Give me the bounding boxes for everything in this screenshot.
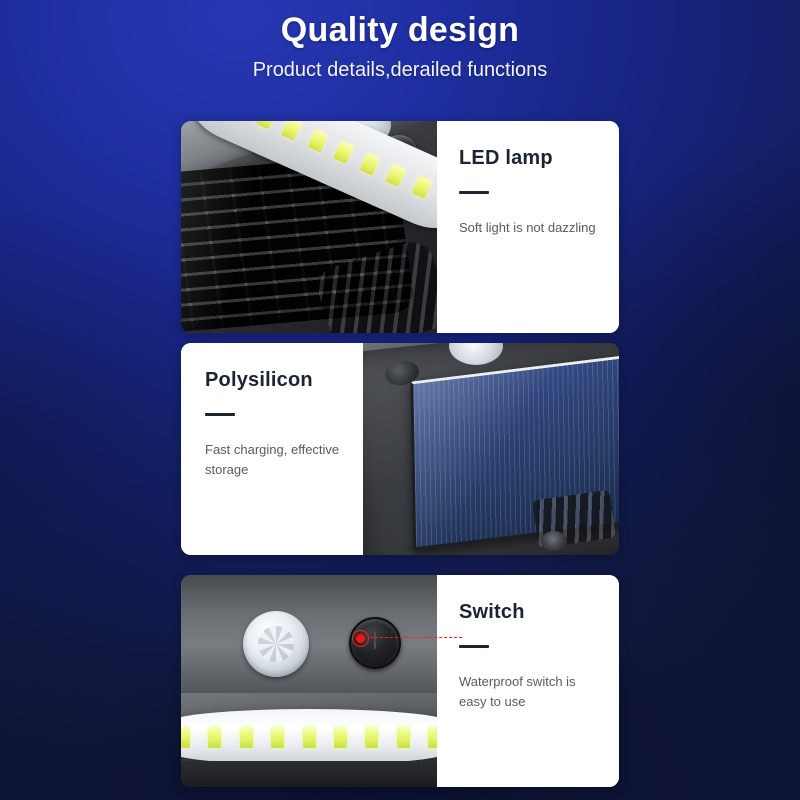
led-chip (385, 164, 406, 187)
led-chip (411, 175, 432, 198)
led-chip (365, 727, 378, 748)
heading-divider (459, 191, 489, 194)
heading-divider (205, 413, 235, 416)
led-chip (397, 727, 410, 748)
led-chip (256, 121, 277, 129)
feature-description: Fast charging, effective storage (205, 440, 345, 480)
led-chip (271, 727, 284, 748)
feature-heading: Polysilicon (205, 367, 313, 393)
led-chip (308, 129, 329, 152)
led-lamp-image (181, 121, 437, 333)
led-chip (359, 152, 380, 175)
polysilicon-image (363, 343, 619, 555)
page-header: Quality design Product details,derailed … (0, 8, 800, 84)
feature-text-led-lamp: LED lamp Soft light is not dazzling (437, 121, 619, 333)
led-chip (428, 727, 437, 748)
feature-text-switch: Switch Waterproof switch is easy to use (437, 575, 619, 787)
feature-description: Soft light is not dazzling (459, 218, 596, 238)
page-background: Quality design Product details,derailed … (0, 0, 800, 800)
page-subtitle: Product details,derailed functions (0, 56, 800, 84)
page-title: Quality design (0, 8, 800, 52)
product-photo-led-lamp (181, 121, 437, 333)
switch-image (181, 575, 437, 787)
power-switch-shape[interactable] (349, 617, 401, 669)
product-photo-polysilicon (363, 343, 619, 555)
led-chip (334, 727, 347, 748)
product-photo-switch (181, 575, 437, 787)
led-chip (181, 727, 190, 748)
led-chip (208, 727, 221, 748)
feature-text-polysilicon: Polysilicon Fast charging, effective sto… (181, 343, 363, 555)
feature-card-switch[interactable]: Switch Waterproof switch is easy to use (181, 575, 619, 787)
led-chip (240, 727, 253, 748)
bottom-shadow-shape (181, 761, 437, 787)
heading-divider (459, 645, 489, 648)
feature-card-led-lamp[interactable]: LED lamp Soft light is not dazzling (181, 121, 619, 333)
feature-card-polysilicon[interactable]: Polysilicon Fast charging, effective sto… (181, 343, 619, 555)
feature-description: Waterproof switch is easy to use (459, 672, 601, 712)
led-strip-shape (181, 709, 437, 765)
led-chip (334, 140, 355, 163)
led-chip-row (181, 725, 437, 749)
feature-heading: Switch (459, 599, 525, 625)
led-chip (303, 727, 316, 748)
led-chip (282, 121, 303, 140)
feature-heading: LED lamp (459, 145, 553, 171)
screw-shape (541, 531, 567, 551)
pir-sensor-shape (243, 611, 309, 677)
